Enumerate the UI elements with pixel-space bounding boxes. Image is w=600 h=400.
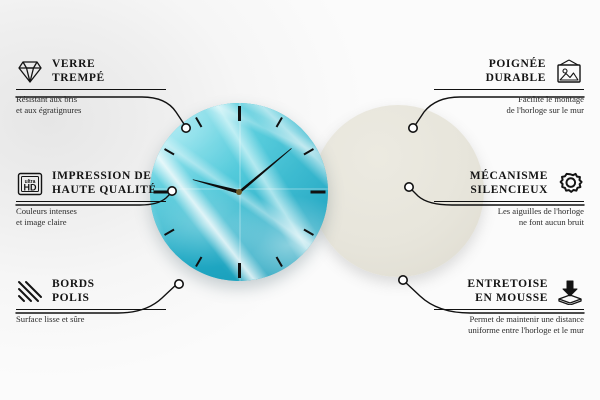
connector-dot-bords — [175, 280, 183, 288]
connector-dot-entretoise — [399, 276, 407, 284]
feature-header: ENTRETOISEEN MOUSSE — [434, 278, 584, 305]
feature-header: VERRETREMPÉ — [16, 58, 166, 85]
feature-header: POIGNÉEDURABLE — [434, 58, 584, 85]
feature-title: VERRETREMPÉ — [52, 58, 105, 85]
gear-icon — [556, 171, 584, 197]
connector-dot-mecanisme — [405, 183, 413, 191]
picture-frame-hanger-icon — [554, 59, 584, 85]
feature-divider — [16, 201, 166, 202]
polished-edges-icon — [16, 279, 44, 305]
feature-title: POIGNÉEDURABLE — [486, 58, 546, 85]
connector-dot-poignee — [409, 124, 417, 132]
connector-dot-impression — [168, 187, 176, 195]
feature-title: BORDSPOLIS — [52, 278, 95, 305]
feature-description: Les aiguilles de l'horloge ne font aucun… — [434, 206, 584, 227]
feature-divider — [16, 89, 166, 90]
feature-title: IMPRESSION DEHAUTE QUALITÉ — [52, 170, 157, 197]
feature-title: MÉCANISMESILENCIEUX — [470, 170, 548, 197]
feature-title: ENTRETOISEEN MOUSSE — [467, 278, 548, 305]
feature-header: BORDSPOLIS — [16, 278, 166, 305]
ultra-hd-icon-bottom-text: HD — [24, 182, 37, 192]
feature-poignee-durable[interactable]: POIGNÉEDURABLE Facilite le montage de l'… — [434, 58, 584, 116]
feature-description: Couleurs intenses et image claire — [16, 206, 166, 227]
feature-description: Facilite le montage de l'horloge sur le … — [434, 94, 584, 115]
feature-verre-trempe[interactable]: VERRETREMPÉ Résistant aux bris et aux ég… — [16, 58, 166, 116]
ultra-hd-icon: ultra HD — [16, 171, 44, 197]
feature-description: Résistant aux bris et aux égratignures — [16, 94, 166, 115]
feature-description: Surface lisse et sûre — [16, 314, 166, 325]
feature-impression-haute-qualite[interactable]: ultra HD IMPRESSION DEHAUTE QUALITÉ Coul… — [16, 170, 166, 228]
diamond-icon — [16, 59, 44, 85]
feature-mecanisme-silencieux[interactable]: MÉCANISMESILENCIEUX Les aiguilles de l'h… — [434, 170, 584, 228]
feature-entretoise-en-mousse[interactable]: ENTRETOISEEN MOUSSE Permet de maintenir … — [434, 278, 584, 336]
feature-header: ultra HD IMPRESSION DEHAUTE QUALITÉ — [16, 170, 166, 197]
feature-divider — [434, 201, 584, 202]
feature-bords-polis[interactable]: BORDSPOLIS Surface lisse et sûre — [16, 278, 166, 325]
connector-dot-verre — [182, 124, 190, 132]
feature-header: MÉCANISMESILENCIEUX — [434, 170, 584, 197]
infographic-canvas: VERRETREMPÉ Résistant aux bris et aux ég… — [0, 0, 600, 400]
feature-divider — [434, 309, 584, 310]
feature-divider — [16, 309, 166, 310]
feature-description: Permet de maintenir une distance uniform… — [434, 314, 584, 335]
arrow-down-pad-icon — [556, 279, 584, 305]
feature-divider — [434, 89, 584, 90]
